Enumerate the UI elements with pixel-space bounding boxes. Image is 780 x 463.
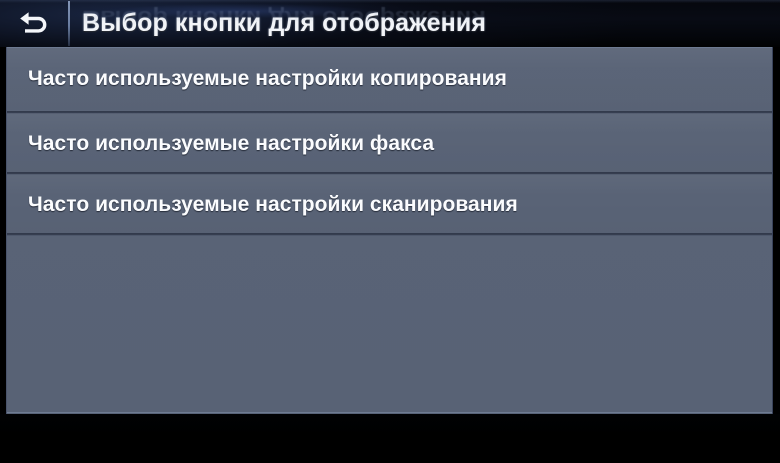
right-bezel: [773, 47, 780, 414]
list-separator: [7, 233, 772, 236]
header-gloss: [0, 0, 780, 3]
list-item-label: Часто используемые настройки копирования: [7, 67, 507, 91]
bottom-bezel: [0, 414, 780, 463]
left-bezel: [0, 47, 6, 414]
header-bar: Выбор кнопки для отображения Выбор кнопк…: [0, 0, 780, 47]
list-item-fax-favorites[interactable]: Часто используемые настройки факса: [7, 113, 772, 175]
page-title: Выбор кнопки для отображения: [82, 6, 486, 40]
back-arrow-icon: [17, 11, 51, 37]
header-divider: [68, 1, 70, 46]
list-item-label: Часто используемые настройки сканировани…: [7, 193, 518, 217]
back-button[interactable]: [6, 2, 62, 45]
touch-panel-screen: Выбор кнопки для отображения Выбор кнопк…: [0, 0, 780, 463]
list-item-scan-favorites[interactable]: Часто используемые настройки сканировани…: [7, 174, 772, 236]
list-item-label: Часто используемые настройки факса: [7, 132, 434, 156]
settings-list-panel: Часто используемые настройки копирования…: [6, 47, 773, 414]
list-item-copy-favorites[interactable]: Часто используемые настройки копирования: [7, 48, 772, 110]
